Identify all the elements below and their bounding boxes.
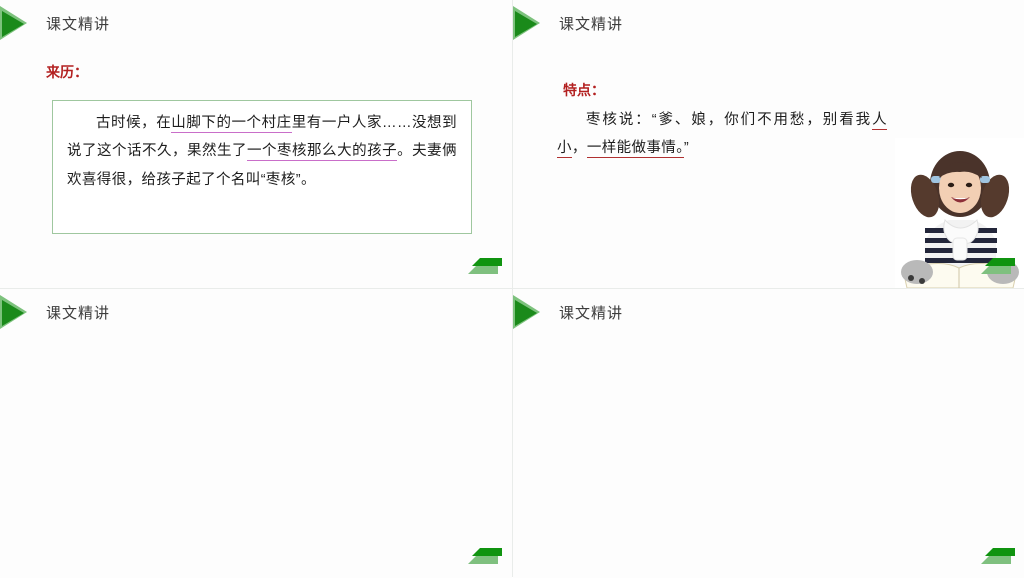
slide-3-corner-chevron-icon	[466, 548, 502, 568]
slide-2-header-title: 课文精讲	[559, 13, 623, 34]
slide-1-corner-chevron-icon	[466, 258, 502, 278]
para-seg-1: 枣核说：“爹、娘，你们不用愁，别看我	[586, 112, 872, 128]
corner-chevron-top-icon	[472, 258, 502, 266]
slide-4[interactable]: 课文精讲 枣核做了一件什么了不起的事情? 枣核靠自己的聪明夺回了老百姓被县衙门抢…	[513, 289, 1024, 578]
slide-3-header: 课文精讲	[0, 295, 110, 329]
slide-1-header: 课文精讲	[0, 6, 110, 40]
slide-2-header: 课文精讲	[513, 6, 623, 40]
play-arrow-icon	[513, 294, 555, 330]
play-arrow-icon	[513, 5, 555, 41]
corner-chevron-bottom-icon	[468, 556, 498, 564]
slide-grid: 课文精讲 来历： 古时候，在山脚下的一个村庄里有一户人家……没想到说了这个话不久…	[0, 0, 1024, 577]
slide-4-corner-chevron-icon	[979, 548, 1015, 568]
para-seg-1: 古时候，在	[96, 115, 171, 131]
para-seg-3: ，	[572, 140, 587, 156]
slide-2-corner-chevron-icon	[979, 258, 1015, 278]
slide-2-canvas: 课文精讲 特点： 枣核说：“爹、娘，你们不用愁，别看我人小，一样能做事情。” 人…	[513, 0, 1024, 288]
corner-chevron-top-icon	[985, 548, 1015, 556]
slide-3-canvas: 课文精讲 枣核说:“爹、娘，你们不用愁，别看我人小，一样能做事情。” 枣核很勤快…	[0, 289, 512, 578]
slide-1-header-title: 课文精讲	[46, 13, 110, 34]
play-arrow-dark-icon	[515, 300, 537, 326]
para-seg-5: ”	[684, 140, 689, 156]
play-arrow-icon	[0, 294, 42, 330]
para-seg-4-underlined: 一样能做事情。	[587, 140, 684, 158]
slide-2[interactable]: 课文精讲 特点： 枣核说：“爹、娘，你们不用愁，别看我人小，一样能做事情。” 人…	[513, 0, 1024, 288]
play-arrow-dark-icon	[515, 11, 537, 37]
slide-4-canvas: 课文精讲 枣核做了一件什么了不起的事情? 枣核靠自己的聪明夺回了老百姓被县衙门抢…	[513, 289, 1024, 578]
slide-4-header: 课文精讲	[513, 295, 623, 329]
corner-chevron-top-icon	[985, 258, 1015, 266]
play-arrow-dark-icon	[2, 11, 24, 37]
slide-1-canvas: 课文精讲 来历： 古时候，在山脚下的一个村庄里有一户人家……没想到说了这个话不久…	[0, 0, 512, 288]
slide-1-text-box: 古时候，在山脚下的一个村庄里有一户人家……没想到说了这个话不久，果然生了一个枣核…	[52, 100, 472, 234]
corner-chevron-bottom-icon	[981, 556, 1011, 564]
corner-chevron-bottom-icon	[468, 266, 498, 274]
slide-1[interactable]: 课文精讲 来历： 古时候，在山脚下的一个村庄里有一户人家……没想到说了这个话不久…	[0, 0, 512, 288]
slide-4-header-title: 课文精讲	[559, 302, 623, 323]
slide-2-text-block: 枣核说：“爹、娘，你们不用愁，别看我人小，一样能做事情。”	[557, 106, 887, 163]
slide-3-header-title: 课文精讲	[46, 302, 110, 323]
para-seg-2-underlined: 山脚下的一个村庄	[171, 115, 291, 133]
play-arrow-icon	[0, 5, 42, 41]
slide-2-heading: 特点：	[563, 80, 605, 100]
para-seg-4-underlined: 一个枣核那么大的孩子	[247, 143, 397, 161]
slide-1-paragraph: 古时候，在山脚下的一个村庄里有一户人家……没想到说了这个话不久，果然生了一个枣核…	[67, 109, 457, 194]
slide-3[interactable]: 课文精讲 枣核说:“爹、娘，你们不用愁，别看我人小，一样能做事情。” 枣核很勤快…	[0, 289, 512, 578]
slide-1-heading: 来历：	[46, 62, 88, 82]
corner-chevron-bottom-icon	[981, 266, 1011, 274]
slide-2-paragraph: 枣核说：“爹、娘，你们不用愁，别看我人小，一样能做事情。”	[557, 106, 887, 163]
play-arrow-dark-icon	[2, 300, 24, 326]
corner-chevron-top-icon	[472, 548, 502, 556]
